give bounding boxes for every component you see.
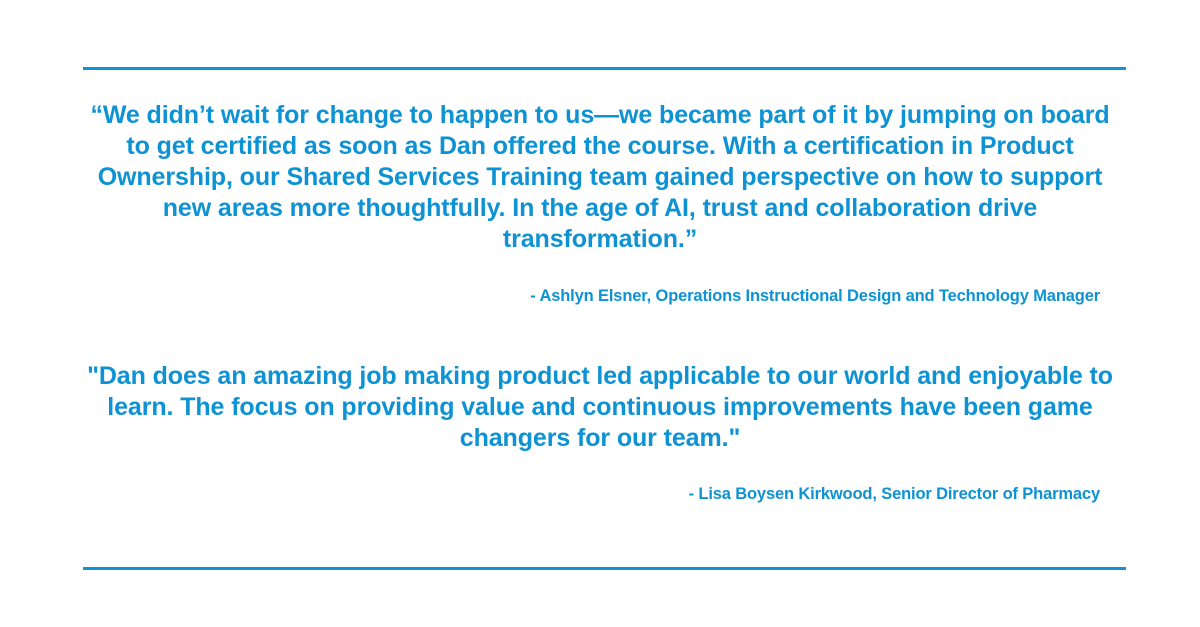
testimonial-block-2: "Dan does an amazing job making product … [83, 361, 1117, 504]
testimonial-block-1: “We didn’t wait for change to happen to … [83, 100, 1117, 306]
testimonial-attribution-1: - Ashlyn Elsner, Operations Instructiona… [83, 286, 1117, 306]
top-divider-rule [83, 67, 1126, 70]
bottom-divider-rule [83, 567, 1126, 570]
testimonial-quote-2: "Dan does an amazing job making product … [83, 361, 1117, 454]
testimonial-slide: “We didn’t wait for change to happen to … [0, 0, 1200, 627]
testimonial-quote-1: “We didn’t wait for change to happen to … [83, 100, 1117, 255]
testimonial-attribution-2: - Lisa Boysen Kirkwood, Senior Director … [83, 484, 1117, 504]
testimonials-container: “We didn’t wait for change to happen to … [83, 100, 1117, 504]
